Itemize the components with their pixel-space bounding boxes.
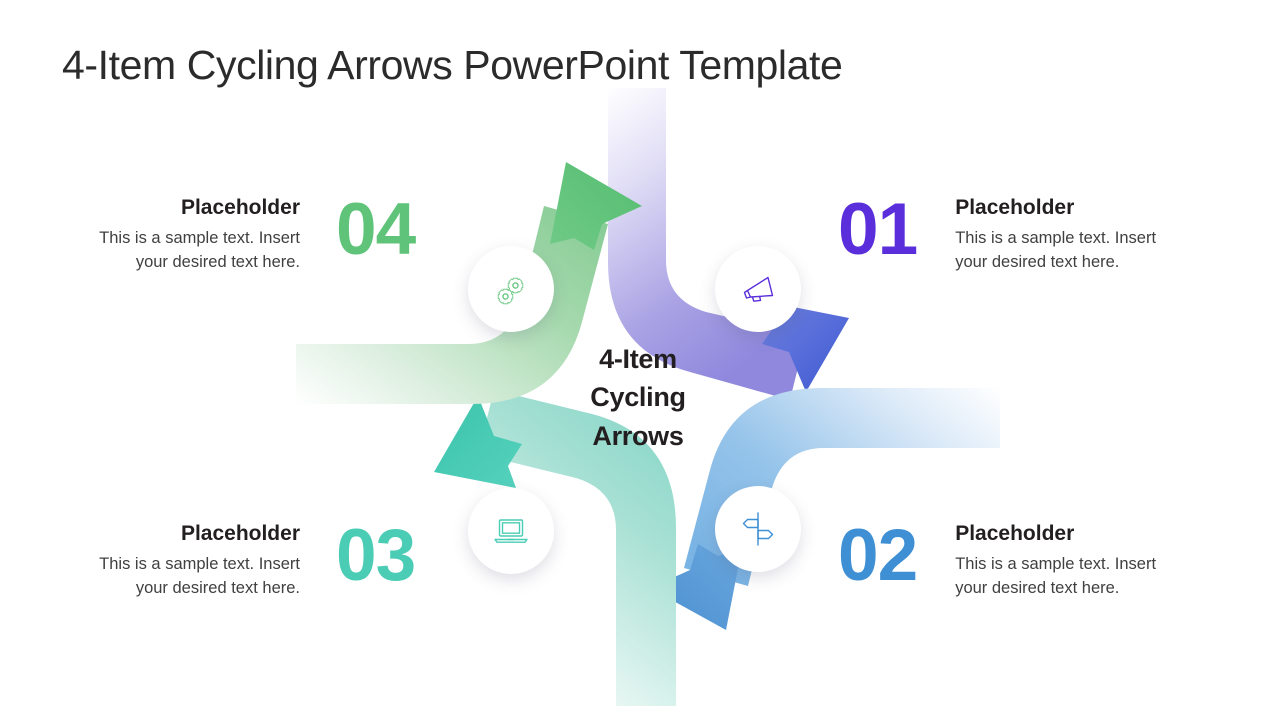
item-number-04: 04 (336, 196, 415, 263)
center-label-line-3: Arrows (538, 417, 738, 455)
laptop-icon (488, 508, 534, 554)
item-body-03: This is a sample text. Insert your desir… (68, 553, 300, 601)
megaphone-icon (735, 266, 781, 312)
item-body-04: This is a sample text. Insert your desir… (68, 227, 300, 275)
item-04: Placeholder This is a sample text. Inser… (68, 196, 415, 275)
item-number-02: 02 (838, 522, 917, 589)
icon-circle-04[interactable] (468, 246, 554, 332)
item-01: 01 Placeholder This is a sample text. In… (838, 196, 1187, 275)
item-heading-04: Placeholder (68, 196, 300, 220)
item-03: Placeholder This is a sample text. Inser… (68, 522, 415, 601)
icon-circle-02[interactable] (715, 486, 801, 572)
center-label-line-1: 4-Item (538, 340, 738, 378)
center-label: 4-Item Cycling Arrows (538, 340, 738, 455)
item-number-01: 01 (838, 196, 917, 263)
item-heading-01: Placeholder (955, 196, 1187, 220)
item-number-03: 03 (336, 522, 415, 589)
item-heading-02: Placeholder (955, 522, 1187, 546)
item-body-01: This is a sample text. Insert your desir… (955, 227, 1187, 275)
slide-canvas: 4-Item Cycling Arrows PowerPoint Templat… (0, 0, 1280, 720)
gears-icon (488, 266, 534, 312)
item-heading-03: Placeholder (68, 522, 300, 546)
item-body-02: This is a sample text. Insert your desir… (955, 553, 1187, 601)
item-02: 02 Placeholder This is a sample text. In… (838, 522, 1187, 601)
center-label-line-2: Cycling (538, 378, 738, 416)
icon-circle-01[interactable] (715, 246, 801, 332)
icon-circle-03[interactable] (468, 488, 554, 574)
signpost-icon (735, 506, 781, 552)
